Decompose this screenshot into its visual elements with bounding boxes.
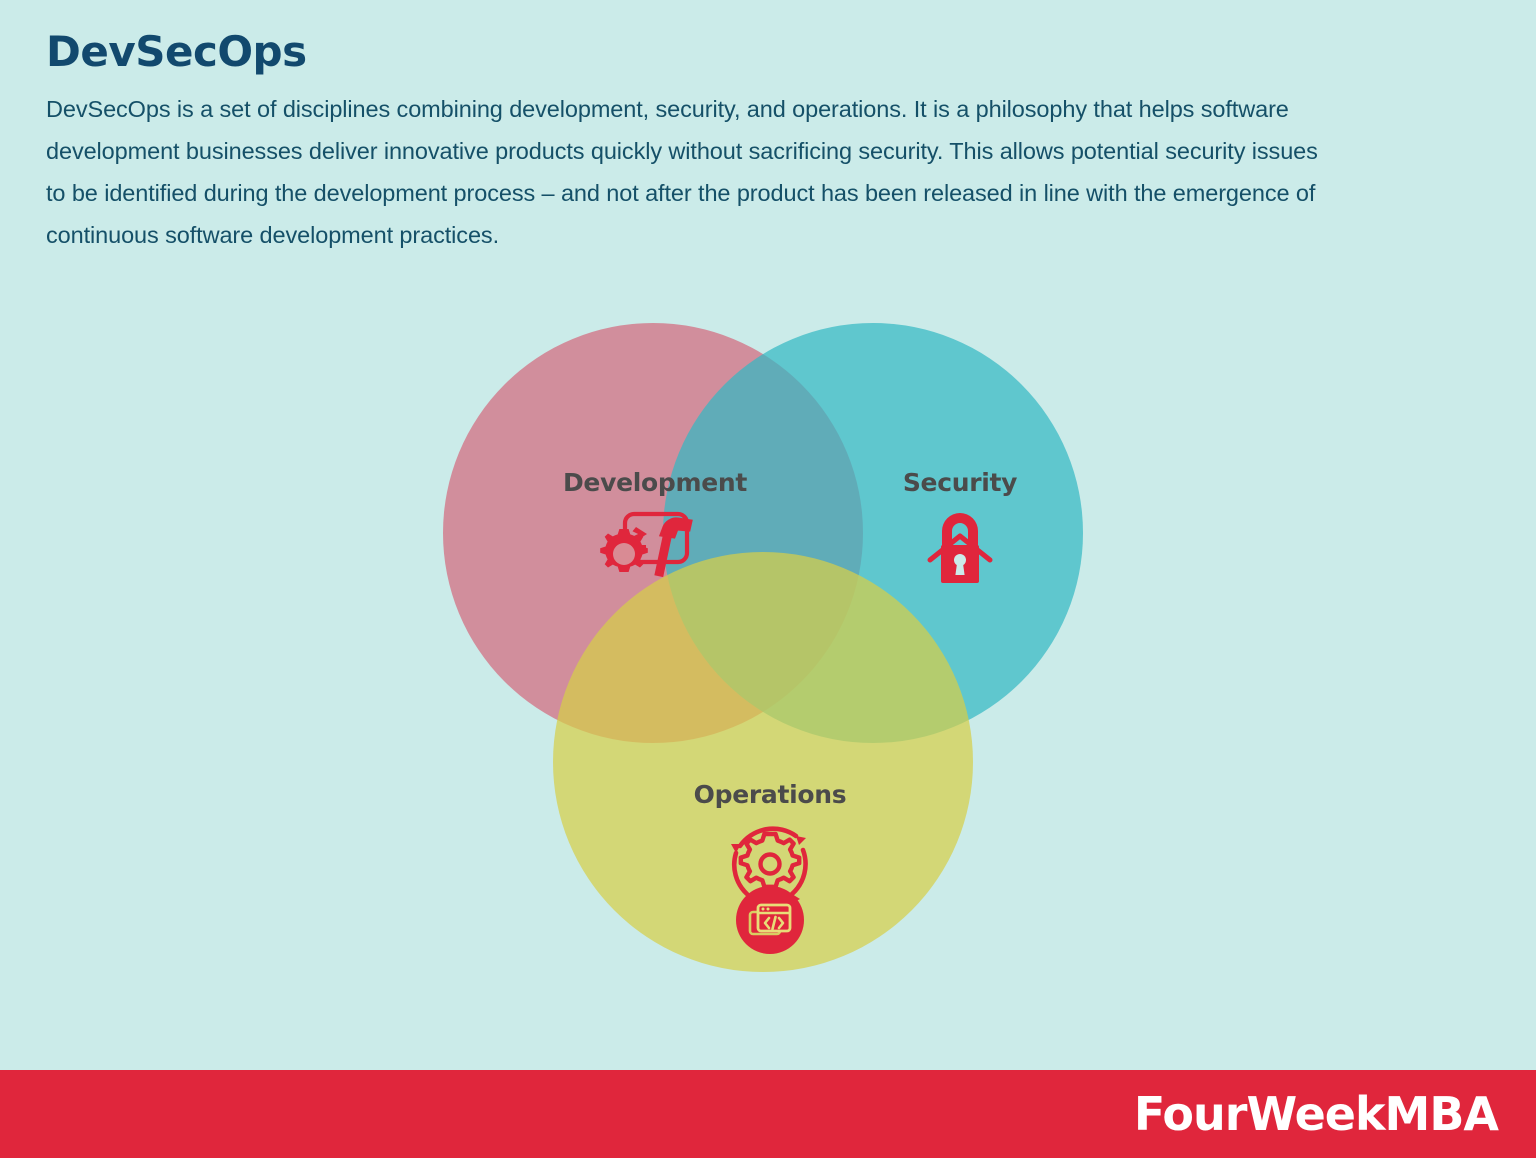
terminal-gear-hammer-icon xyxy=(595,505,715,585)
header-block: DevSecOps DevSecOps is a set of discipli… xyxy=(46,30,1336,256)
venn-label-development: Development xyxy=(563,468,747,497)
footer-bar: FourWeekMBA xyxy=(0,1070,1536,1158)
padlock-house-icon xyxy=(920,505,1000,587)
page-title: DevSecOps xyxy=(46,30,1336,74)
venn-label-security: Security xyxy=(903,468,1017,497)
page-description: DevSecOps is a set of disciplines combin… xyxy=(46,88,1336,256)
venn-label-operations: Operations xyxy=(694,780,847,809)
code-window-icon[interactable] xyxy=(734,884,806,956)
brand-logo: FourWeekMBA xyxy=(1134,1087,1498,1141)
venn-diagram: Development Security Operations xyxy=(418,300,1108,1000)
